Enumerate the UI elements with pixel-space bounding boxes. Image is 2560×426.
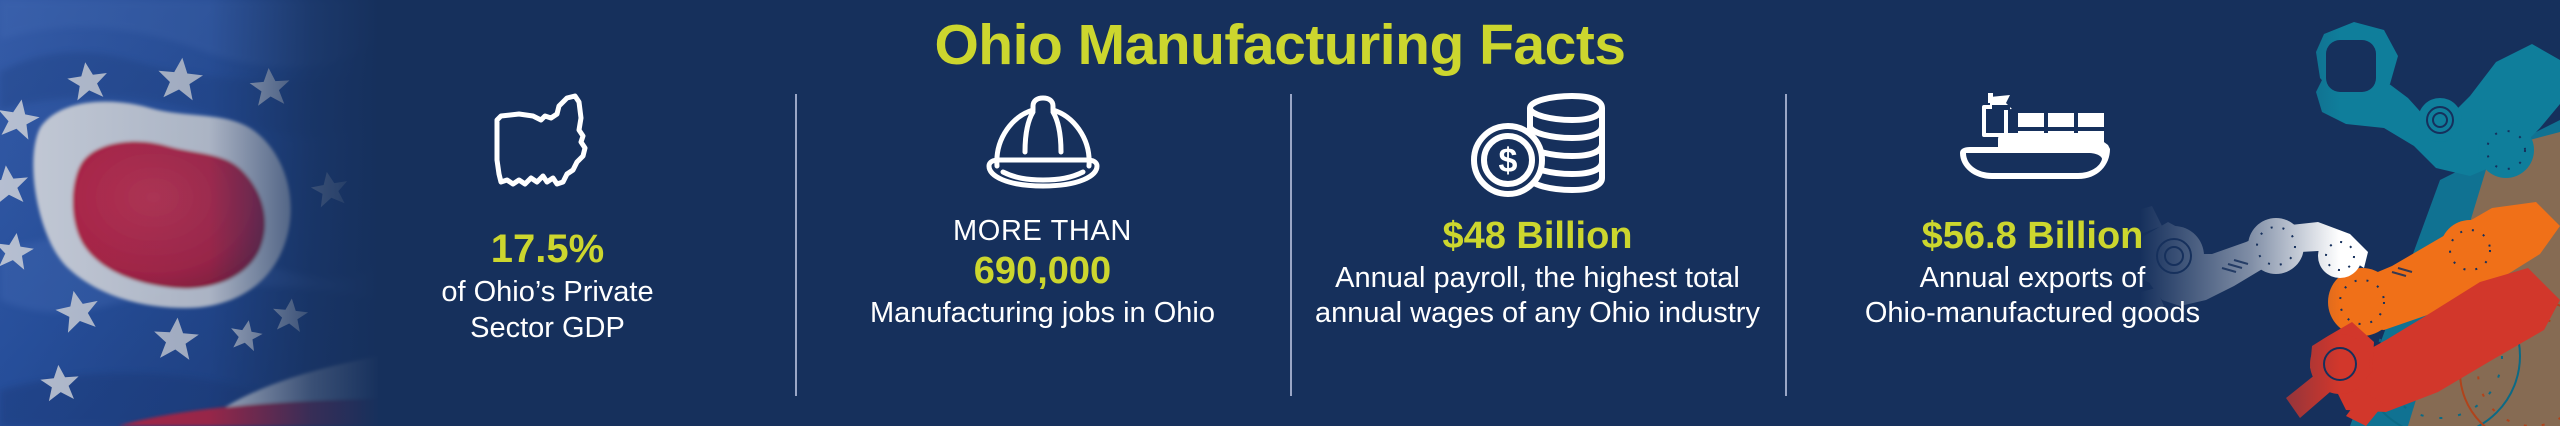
stat-value-exports: $56.8 Billion	[1865, 214, 2200, 259]
stats-row: 17.5% of Ohio’s Private Sector GDP	[300, 88, 2280, 398]
stat-value-payroll: $48 Billion	[1315, 214, 1760, 259]
stat-item-jobs: MORE THAN 690,000 Manufacturing jobs in …	[795, 88, 1290, 398]
cargo-ship-icon	[1952, 88, 2114, 200]
stat-item-payroll: $ $48 Billion Annual payroll, the highes…	[1290, 88, 1785, 398]
stat-pre-jobs: MORE THAN	[870, 214, 1215, 248]
coin-stack-svg: $	[1468, 90, 1608, 198]
page-title: Ohio Manufacturing Facts	[0, 12, 2560, 78]
stat-desc-payroll-line2: annual wages of any Ohio industry	[1315, 296, 1760, 331]
hard-hat-svg	[975, 92, 1111, 196]
ohio-outline-svg	[489, 90, 607, 198]
stat-text-exports: $56.8 Billion Annual exports of Ohio-man…	[1865, 214, 2200, 332]
stat-text-jobs: MORE THAN 690,000 Manufacturing jobs in …	[870, 214, 1215, 331]
stat-desc-payroll-line1: Annual payroll, the highest total	[1315, 261, 1760, 296]
stat-item-gdp: 17.5% of Ohio’s Private Sector GDP	[300, 88, 795, 398]
stat-text-gdp: 17.5% of Ohio’s Private Sector GDP	[441, 226, 653, 346]
ohio-manufacturing-facts-banner: Ohio Manufacturing Facts 17.5% of Ohio’s…	[0, 0, 2560, 426]
coin-stack-icon: $	[1468, 88, 1608, 200]
svg-text:$: $	[1498, 142, 1517, 180]
stat-desc-gdp-line1: of Ohio’s Private	[441, 275, 653, 310]
stat-item-exports: $56.8 Billion Annual exports of Ohio-man…	[1785, 88, 2280, 398]
hard-hat-icon	[975, 88, 1111, 200]
ohio-state-outline-icon	[489, 88, 607, 200]
stat-desc-gdp-line2: Sector GDP	[441, 311, 653, 346]
stat-value-jobs: 690,000	[870, 249, 1215, 294]
stat-desc-jobs-line1: Manufacturing jobs in Ohio	[870, 296, 1215, 331]
stat-text-payroll: $48 Billion Annual payroll, the highest …	[1315, 214, 1760, 332]
stat-desc-exports-line1: Annual exports of	[1865, 261, 2200, 296]
cargo-ship-svg	[1952, 91, 2114, 197]
stat-desc-exports-line2: Ohio-manufactured goods	[1865, 296, 2200, 331]
stat-value-gdp: 17.5%	[441, 226, 653, 273]
